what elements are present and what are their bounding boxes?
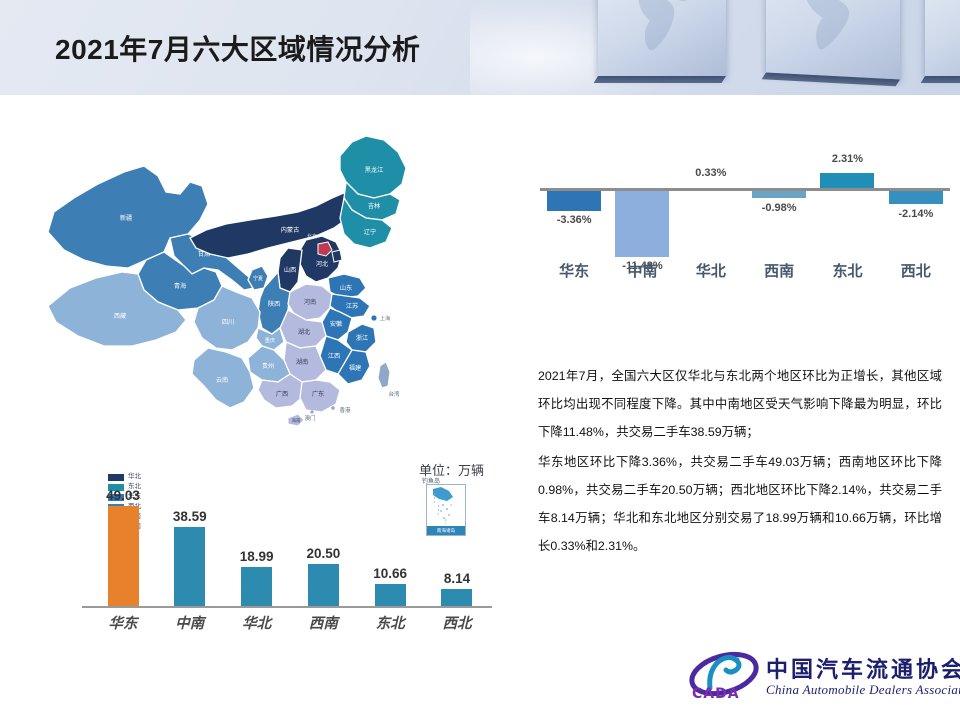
logo-name-cn: 中国汽车流通协会 (766, 652, 960, 684)
svg-text:香港: 香港 (340, 406, 351, 414)
pct-bar (615, 191, 669, 257)
pct-category: 华东 (540, 260, 608, 281)
analysis-text: 2021年7月，全国六大区仅华北与东北两个地区环比为正增长，其他区域环比均出现不… (538, 362, 942, 560)
bar-category: 东北 (359, 612, 421, 638)
pct-category: 西北 (882, 260, 950, 281)
bar-value-label: 20.50 (306, 546, 340, 561)
pct-zero-axis (540, 188, 950, 191)
bar-value-label: 10.66 (373, 566, 407, 581)
pct-category: 中南 (608, 260, 676, 281)
bar-category: 西南 (292, 612, 354, 638)
pct-value-label: 0.33% (695, 167, 726, 179)
region-mom-change-chart: -3.36% -11.48% 0.33% -0.98% 2.31% -2.14%… (534, 140, 954, 290)
pct-bar (547, 191, 601, 211)
bar-category: 华北 (226, 612, 288, 638)
globe-cube-icon (766, 0, 900, 80)
world-map-texture-icon (613, 0, 710, 61)
analysis-paragraph-1: 2021年7月，全国六大区仅华北与东北两个地区环比为正增长，其他区域环比均出现不… (538, 362, 942, 446)
analysis-paragraph-2: 华东地区环比下降3.36%，共交易二手车49.03万辆；西南地区环比下降0.98… (538, 448, 942, 560)
svg-text:天津: 天津 (346, 257, 357, 264)
bar-column-huabei: 18.99 (226, 481, 288, 606)
bar-value-label: 38.59 (173, 509, 207, 524)
pct-value-label: -2.14% (898, 208, 933, 220)
bar-column-xinan: 20.50 (292, 481, 354, 606)
svg-text:台湾: 台湾 (389, 390, 400, 398)
page-title: 2021年7月六大区域情况分析 (55, 28, 420, 68)
bar-column-zhongnan: 38.59 (159, 481, 221, 606)
bar-rect (308, 564, 339, 606)
bar-category: 华东 (92, 612, 154, 638)
pct-value-label: -0.98% (762, 202, 797, 214)
logo-abbr: CADA (692, 686, 740, 702)
bar-rect (241, 567, 272, 606)
bar-rect (174, 527, 205, 606)
pct-bar (752, 191, 806, 198)
volume-chart-baseline (82, 606, 492, 608)
bar-column-dongbei: 10.66 (359, 481, 421, 606)
pct-bar (820, 173, 874, 188)
pct-category-labels: 华东 中南 华北 西南 东北 西北 (540, 260, 950, 281)
pct-category: 华北 (677, 260, 745, 281)
globe-cube-icon (598, 0, 726, 76)
bar-column-huadong: 49.03 (92, 481, 154, 606)
svg-text:上海: 上海 (380, 314, 390, 322)
svg-text:澳门: 澳门 (305, 414, 316, 422)
china-map-svg: 新疆 甘肃 青海 西藏 内蒙古 黑龙江 吉林 辽宁 河北 北京 天津 山西 (40, 120, 460, 430)
bar-rect (441, 589, 472, 606)
page-header: 2021年7月六大区域情况分析 (0, 0, 960, 95)
cada-logo: CADA 中国汽车流通协会 China Automobile Dealers A… (688, 648, 950, 710)
volume-category-labels: 华东 中南 华北 西南 东北 西北 (92, 612, 488, 638)
region-volume-bar-chart: 单位：万辆 49.03 38.59 18.99 20.50 10.66 8.14… (60, 452, 500, 642)
bar-value-label: 8.14 (444, 571, 470, 586)
pct-value-label: 2.31% (832, 153, 863, 165)
unit-label: 单位：万辆 (419, 460, 484, 479)
globe-cube-icon (925, 0, 960, 76)
pct-bar (889, 191, 943, 204)
bar-category: 中南 (159, 612, 221, 638)
bar-value-label: 18.99 (240, 549, 274, 564)
volume-bar-columns: 49.03 38.59 18.99 20.50 10.66 8.14 (92, 481, 488, 606)
china-region-map: 新疆 甘肃 青海 西藏 内蒙古 黑龙江 吉林 辽宁 河北 北京 天津 山西 (40, 120, 460, 430)
bar-value-label: 49.03 (106, 488, 140, 503)
logo-name-en: China Automobile Dealers Association (766, 682, 960, 698)
world-map-texture-icon (782, 0, 884, 63)
bar-column-xibei: 8.14 (426, 481, 488, 606)
pct-category: 东北 (813, 260, 881, 281)
pct-category: 西南 (745, 260, 813, 281)
bar-rect (375, 584, 406, 606)
pct-value-label: -3.36% (557, 214, 592, 226)
bar-rect (108, 506, 139, 606)
bar-category: 西北 (426, 612, 488, 638)
